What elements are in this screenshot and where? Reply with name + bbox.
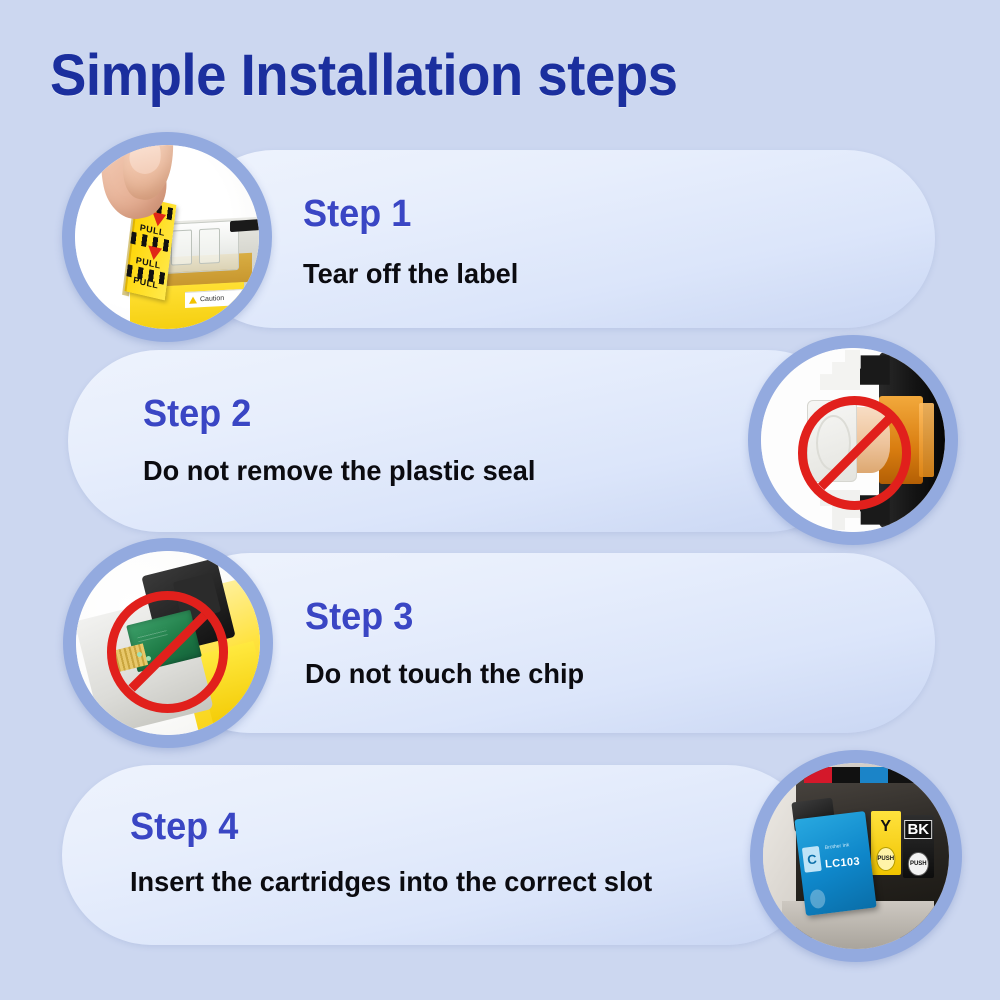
infographic-canvas: Simple Installation steps Caution <box>0 0 1000 1000</box>
step-1-body: Tear off the label <box>303 258 518 290</box>
step-4-image-circle: Y PUSH BK PUSH C Brother Ink LC103 <box>750 750 962 962</box>
tear-off-label-photo: Caution PULL PULL PULL <box>75 145 259 329</box>
page-title: Simple Installation steps <box>50 42 678 109</box>
cyan-cartridge: C Brother Ink LC103 <box>795 811 877 916</box>
step-3-heading: Step 3 <box>305 596 413 639</box>
prohibition-icon <box>798 396 912 510</box>
step-4-heading: Step 4 <box>130 806 238 849</box>
warning-triangle-icon <box>189 297 197 304</box>
step-2-image-circle <box>748 335 958 545</box>
yellow-slot: Y PUSH <box>871 811 901 874</box>
step-1-image-circle: Caution PULL PULL PULL <box>62 132 272 342</box>
step-4-panel <box>62 765 817 945</box>
step-4-body: Insert the cartridges into the correct s… <box>130 866 652 898</box>
step-2-heading: Step 2 <box>143 393 251 436</box>
color-indicator-bar <box>804 767 916 784</box>
cartridge-chip-photo <box>76 551 260 735</box>
step-2-panel <box>68 350 858 532</box>
step-3-body: Do not touch the chip <box>305 658 584 690</box>
step-2-body: Do not remove the plastic seal <box>143 455 535 487</box>
black-slot: BK PUSH <box>903 815 935 878</box>
cartridge-slot-photo: Y PUSH BK PUSH C Brother Ink LC103 <box>763 763 949 949</box>
step-1-heading: Step 1 <box>303 193 411 236</box>
step-3-panel <box>160 553 935 733</box>
plastic-seal-photo <box>761 348 945 532</box>
prohibition-icon <box>107 591 228 712</box>
step-3-image-circle <box>63 538 273 748</box>
step-1-panel <box>185 150 935 328</box>
